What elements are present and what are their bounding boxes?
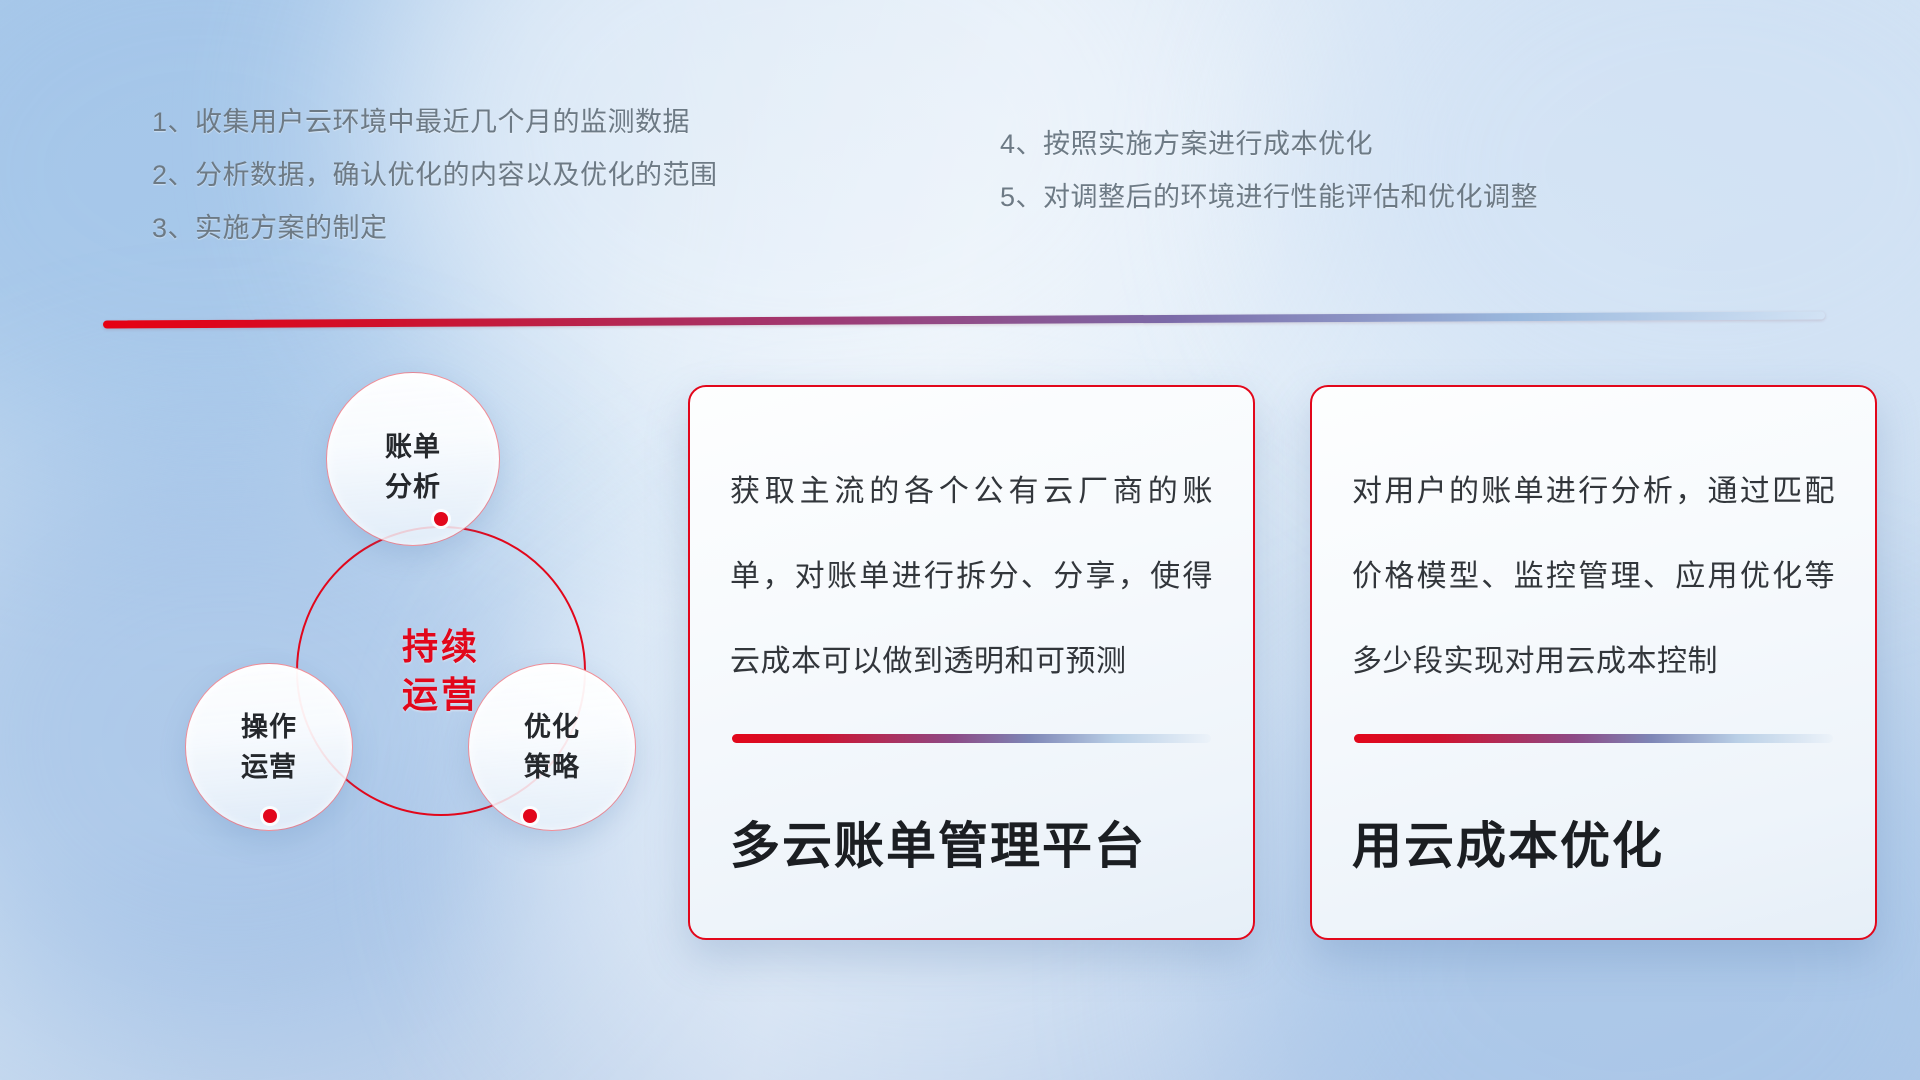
slide-content: 1、收集用户云环境中最近几个月的监测数据 2、分析数据，确认优化的内容以及优化的…	[0, 0, 1920, 1080]
feature-card-multicloud-billing[interactable]: 获取主流的各个公有云厂商的账单，对账单进行拆分、分享，使得云成本可以做到透明和可…	[688, 385, 1255, 940]
node-label-line2: 策略	[524, 747, 580, 787]
process-step: 2、分析数据，确认优化的内容以及优化的范围	[152, 149, 718, 202]
connector-dot-icon	[263, 809, 277, 823]
node-label-line1: 优化	[524, 707, 580, 747]
card-divider	[732, 734, 1211, 743]
node-label-line1: 操作	[241, 707, 297, 747]
diagram-node-optimization-strategy[interactable]: 优化 策略	[468, 663, 636, 831]
process-steps-right: 4、按照实施方案进行成本优化 5、对调整后的环境进行性能评估和优化调整	[1000, 118, 1538, 224]
feature-card-cloud-cost-optimization[interactable]: 对用户的账单进行分析，通过匹配价格模型、监控管理、应用优化等多少段实现对用云成本…	[1310, 385, 1877, 940]
diagram-node-billing-analysis[interactable]: 账单 分析	[326, 372, 500, 546]
node-label-line2: 分析	[385, 467, 441, 507]
process-step: 1、收集用户云环境中最近几个月的监测数据	[152, 96, 718, 149]
diagram-node-label: 账单 分析	[385, 427, 441, 507]
center-label-line1: 持续	[402, 623, 480, 671]
process-steps-left: 1、收集用户云环境中最近几个月的监测数据 2、分析数据，确认优化的内容以及优化的…	[152, 96, 718, 255]
diagram-node-operations[interactable]: 操作 运营	[185, 663, 353, 831]
diagram-node-label: 优化 策略	[524, 707, 580, 787]
continuous-operation-diagram: 持续 运营 账单 分析 操作 运营 优化 策略	[100, 360, 660, 940]
card-title: 用云成本优化	[1352, 806, 1835, 878]
section-divider	[103, 311, 1825, 328]
card-title: 多云账单管理平台	[730, 806, 1213, 878]
center-label-line2: 运营	[402, 671, 480, 719]
connector-dot-icon	[523, 809, 537, 823]
process-step: 5、对调整后的环境进行性能评估和优化调整	[1000, 171, 1538, 224]
card-body-text: 对用户的账单进行分析，通过匹配价格模型、监控管理、应用优化等多少段实现对用云成本…	[1352, 449, 1835, 704]
diagram-node-label: 操作 运营	[241, 707, 297, 787]
node-label-line2: 运营	[241, 747, 297, 787]
connector-dot-icon	[434, 512, 448, 526]
card-body-text: 获取主流的各个公有云厂商的账单，对账单进行拆分、分享，使得云成本可以做到透明和可…	[730, 449, 1213, 704]
node-label-line1: 账单	[385, 427, 441, 467]
process-step: 4、按照实施方案进行成本优化	[1000, 118, 1538, 171]
process-step: 3、实施方案的制定	[152, 202, 718, 255]
card-divider	[1354, 734, 1833, 743]
